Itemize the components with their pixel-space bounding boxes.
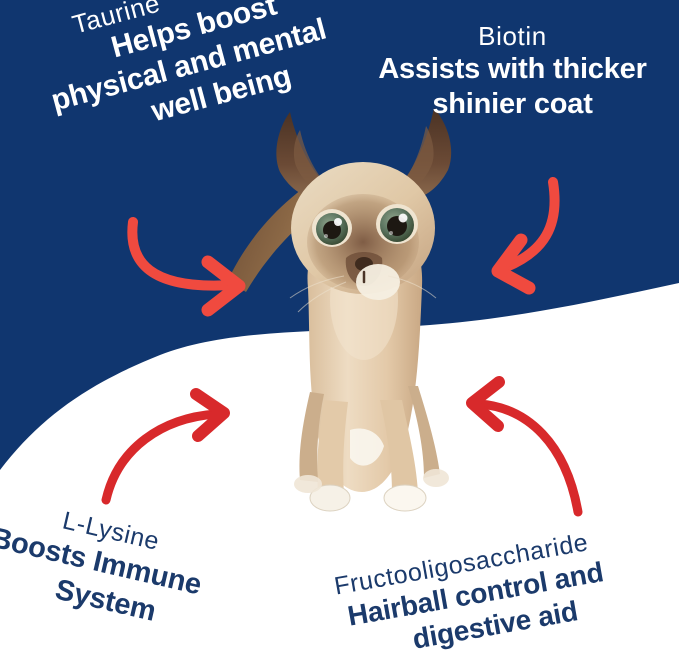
kitten-photo [212,100,512,530]
kitten-artwork [212,100,512,530]
infographic-canvas: Taurine Helps boost physical and mental … [0,0,679,655]
callout-biotin-nutrient: Biotin [350,20,675,52]
callout-biotin-benefit-line-1: Assists with thicker [350,52,675,87]
callout-biotin-benefit-line-2: shinier coat [350,87,675,122]
callout-biotin: Biotin Assists with thicker shinier coat [350,20,675,122]
kitten-paw-right [384,485,426,511]
callout-biotin-benefit: Assists with thicker shinier coat [350,52,675,122]
kitten-muzzle [356,264,400,300]
